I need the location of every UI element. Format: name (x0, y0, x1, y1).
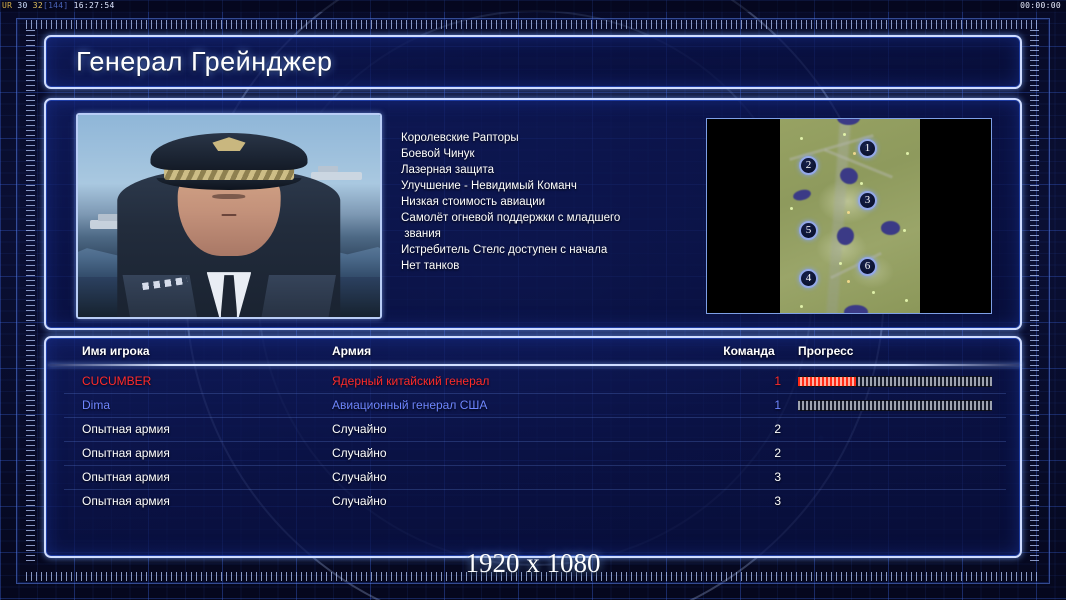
portrait-mouth (222, 214, 236, 216)
player-team[interactable]: 1 (701, 374, 781, 388)
player-team[interactable]: 3 (701, 470, 781, 484)
column-header-name: Имя игрока (82, 344, 150, 358)
player-name: Опытная армия (82, 446, 170, 460)
ability-item: Низкая стоимость авиации (401, 194, 711, 210)
map-resource (905, 299, 908, 302)
table-row[interactable]: Опытная армияСлучайно2 (46, 418, 1020, 442)
player-name: Опытная армия (82, 494, 170, 508)
hud-fps-readout: UR 30 32[144] 16:27:54 (2, 0, 115, 12)
map-start-position-label: 4 (806, 272, 812, 284)
player-team[interactable]: 1 (701, 398, 781, 412)
ruler-left (26, 30, 35, 564)
player-team[interactable]: 3 (701, 494, 781, 508)
player-army[interactable]: Случайно (332, 422, 387, 436)
hud-fps-prefix: UR (2, 1, 12, 10)
header-divider (48, 364, 1022, 366)
column-header-army: Армия (332, 344, 371, 358)
map-resource (860, 182, 863, 185)
portrait-brow (213, 194, 246, 199)
map-start-position[interactable]: 5 (799, 221, 818, 240)
portrait-image (78, 115, 380, 317)
map-resource (843, 133, 846, 136)
game-lobby-screen: UR 30 32[144] 16:27:54 00:00:00 Генерал … (0, 0, 1066, 600)
map-start-position-label: 3 (865, 194, 871, 206)
player-name: Опытная армия (82, 470, 170, 484)
map-resource (847, 280, 850, 283)
table-row[interactable]: CUCUMBERЯдерный китайский генерал1 (46, 370, 1020, 394)
ability-item: Самолёт огневой поддержки с младшего (401, 210, 711, 226)
map-resource (906, 152, 909, 155)
ruler-right (1030, 30, 1039, 564)
title-panel: Генерал Грейнджер (44, 35, 1022, 89)
map-preview[interactable]: 1 2 3 4 5 6 (706, 118, 992, 314)
map-start-position[interactable]: 6 (858, 257, 877, 276)
map-water (881, 221, 901, 235)
player-list-header: Имя игрока Армия Команда Прогресс (46, 344, 1020, 363)
map-water (836, 225, 856, 246)
ruler-top (26, 20, 1040, 29)
map-resource (872, 291, 875, 294)
ability-item: Улучшение - Невидимый Команч (401, 178, 711, 194)
player-name: Опытная армия (82, 422, 170, 436)
progress-bar (798, 376, 992, 387)
map-start-position-label: 5 (806, 224, 812, 236)
player-army[interactable]: Случайно (332, 494, 387, 508)
player-army[interactable]: Авиационный генерал США (332, 398, 487, 412)
map-resource (790, 207, 793, 210)
general-info-panel: Королевские Рапторы Боевой Чинук Лазерна… (44, 98, 1022, 330)
hud-fps-c: [144] (43, 1, 69, 10)
player-army[interactable]: Ядерный китайский генерал (332, 374, 489, 388)
ability-item: звания (401, 226, 711, 242)
general-abilities-list: Королевские Рапторы Боевой Чинук Лазерна… (401, 130, 711, 274)
map-start-position[interactable]: 4 (799, 269, 818, 288)
map-start-position-label: 6 (865, 260, 871, 272)
hud-clock: 16:27:54 (74, 1, 115, 10)
map-resource (853, 152, 856, 155)
map-start-position[interactable]: 3 (858, 191, 877, 210)
map-resource (847, 211, 850, 214)
map-start-position[interactable]: 1 (858, 139, 877, 158)
player-name: Dima (82, 398, 110, 412)
map-resource (800, 137, 803, 140)
table-row[interactable]: Опытная армияСлучайно3 (46, 490, 1020, 514)
general-portrait (76, 113, 382, 319)
player-army[interactable]: Случайно (332, 470, 387, 484)
map-start-position-label: 1 (865, 142, 871, 154)
page-title: Генерал Грейнджер (76, 47, 333, 78)
table-row[interactable]: Опытная армияСлучайно3 (46, 466, 1020, 490)
map-resource (903, 229, 906, 232)
player-list-panel: Имя игрока Армия Команда Прогресс CUCUMB… (44, 336, 1022, 558)
portrait-shoulder-right (261, 275, 335, 317)
map-water (844, 305, 868, 314)
table-row[interactable]: DimaАвиационный генерал США1 (46, 394, 1020, 418)
player-name: CUCUMBER (82, 374, 151, 388)
column-header-progress: Прогресс (798, 344, 853, 358)
progress-bar-fill (798, 377, 856, 386)
ability-item: Боевой Чинук (401, 146, 711, 162)
table-row[interactable]: Опытная армияСлучайно2 (46, 442, 1020, 466)
map-start-position[interactable]: 2 (799, 156, 818, 175)
progress-bar (798, 400, 992, 411)
ability-item: Истребитель Стелс доступен с начала (401, 242, 711, 258)
resolution-label: 1920 x 1080 (0, 548, 1066, 579)
ability-item: Лазерная защита (401, 162, 711, 178)
map-start-position-label: 2 (806, 159, 812, 171)
map-resource (839, 262, 842, 265)
map-resource (800, 305, 803, 308)
aircraft-icon-right (311, 172, 362, 180)
map-water (792, 187, 812, 201)
ability-item: Нет танков (401, 258, 711, 274)
ability-item: Королевские Рапторы (401, 130, 711, 146)
hud-fps-a: 30 (17, 1, 27, 10)
hud-timer: 00:00:00 (1020, 0, 1061, 12)
hud-status-bar: UR 30 32[144] 16:27:54 00:00:00 (0, 0, 1066, 12)
column-header-team: Команда (709, 344, 789, 358)
player-team[interactable]: 2 (701, 446, 781, 460)
player-team[interactable]: 2 (701, 422, 781, 436)
player-army[interactable]: Случайно (332, 446, 387, 460)
hud-fps-b: 32 (33, 1, 43, 10)
